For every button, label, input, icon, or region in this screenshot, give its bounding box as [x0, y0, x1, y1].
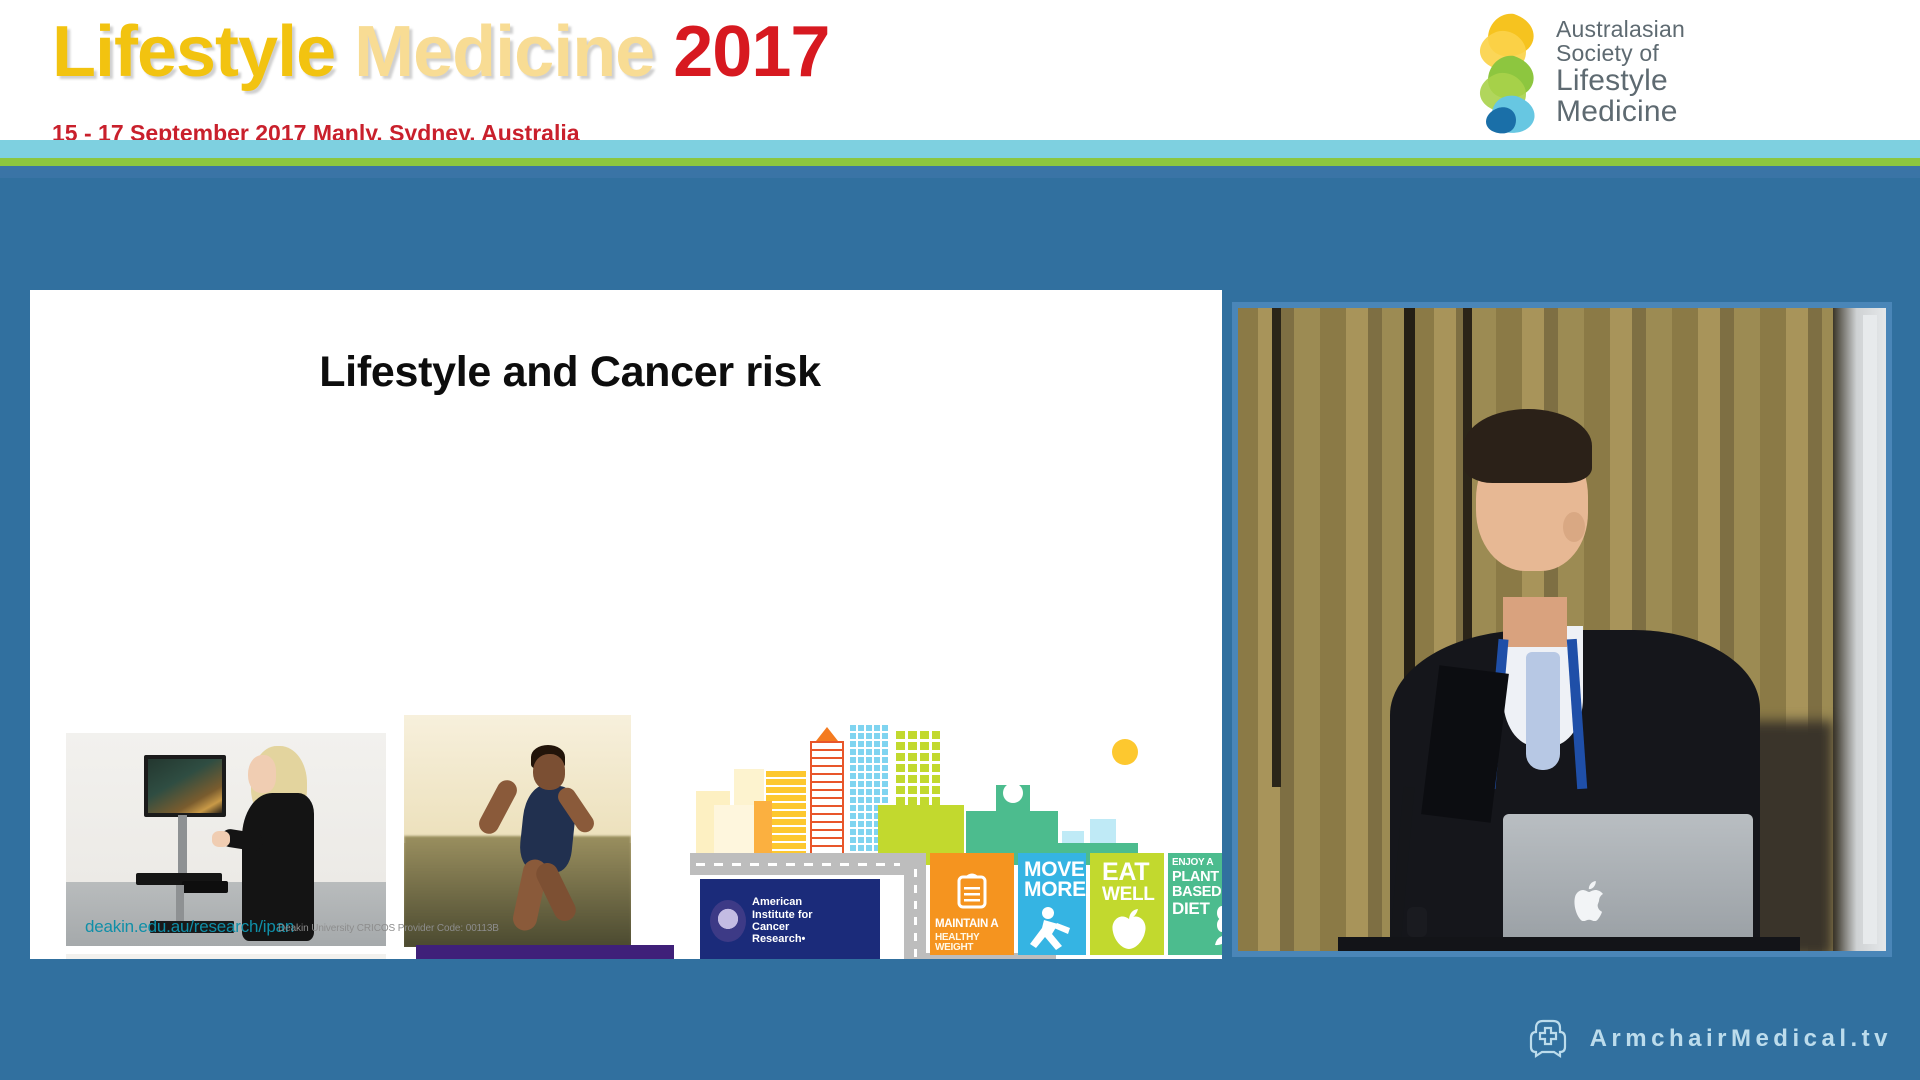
title-word-year: 2017: [673, 12, 829, 92]
conference-title: Lifestyle Medicine 2017: [52, 16, 829, 88]
slide-title: Lifestyle and Cancer risk: [30, 348, 1110, 397]
standing-desk-photo: [66, 733, 386, 946]
maintain-healthy-weight-tile: MAINTAIN A HEALTHY WEIGHT: [930, 853, 1014, 955]
tile-line1: MOVE: [1024, 859, 1085, 880]
move-more-tile: MOVE MORE: [1018, 853, 1086, 955]
header-rule-teal: [0, 140, 1920, 158]
armchair-medical-watermark: ArmchairMedical.tv: [1526, 1018, 1892, 1060]
aslm-logo-line4: Medicine: [1556, 97, 1685, 128]
armchair-medical-cross-icon: [1526, 1018, 1570, 1060]
tile-line2: MORE: [1024, 879, 1086, 900]
aslm-logo: Australasian Society of Lifestyle Medici…: [1468, 10, 1898, 136]
sun-icon: [1112, 739, 1138, 765]
eat-well-tile: EAT WELL: [1090, 853, 1164, 955]
speaker-video[interactable]: [1232, 302, 1892, 957]
aslm-logo-text: Australasian Society of Lifestyle Medici…: [1556, 18, 1685, 127]
conference-header: Lifestyle Medicine 2017 15 - 17 Septembe…: [0, 0, 1920, 178]
aslm-logo-line3: Lifestyle: [1556, 66, 1685, 97]
tile-line1: EAT: [1102, 860, 1149, 885]
runner-icon: [1024, 905, 1082, 953]
slide-panel: Lifestyle and Cancer risk: [30, 290, 1222, 959]
runner-photo: [404, 715, 631, 947]
header-rule-green: [0, 158, 1920, 166]
aslm-leaf-icon: [1468, 12, 1542, 134]
tile-line2: PLANT: [1172, 870, 1219, 885]
video-frame: [1232, 302, 1892, 957]
tile-line1: MAINTAIN A: [935, 919, 998, 931]
aicr-seal-icon: [710, 900, 746, 942]
slide-footer-url: deakin.edu.au/research/ipan: [85, 917, 294, 937]
tile-line4: DIET: [1172, 900, 1210, 917]
tile-line2: HEALTHY WEIGHT: [935, 933, 1014, 953]
apple-icon: [1108, 907, 1150, 951]
title-word-lifestyle: Lifestyle: [52, 12, 335, 92]
tile-line1: ENJOY A: [1172, 858, 1213, 868]
sitting-desk-photo: [66, 954, 386, 959]
scale-icon: [954, 867, 990, 913]
person-face: [248, 755, 276, 793]
cup-report-cover: WorldCancerResearchFund AmericanInstitut…: [416, 945, 674, 959]
header-rule-blue: [0, 166, 1920, 178]
tile-line2: WELL: [1102, 885, 1155, 904]
aslm-logo-line1: Australasian: [1556, 18, 1685, 42]
armchair-medical-text: ArmchairMedical.tv: [1590, 1025, 1892, 1053]
aicr-logo-text: AmericanInstitute forCancerResearch•: [752, 896, 813, 946]
wheat-icon: [1211, 891, 1222, 951]
aicr-logo-box: AmericanInstitute forCancerResearch•: [700, 879, 880, 959]
plant-based-diet-tile: ENJOY A PLANT BASED DIET: [1168, 853, 1222, 955]
slide-footer-note: Deakin University CRICOS Provider Code: …: [278, 923, 499, 934]
aicr-infographic: AmericanInstitute forCancerResearch• 10 …: [690, 725, 1210, 959]
city-skyline-illustration: [690, 725, 1210, 865]
title-word-medicine: Medicine: [354, 12, 654, 92]
aslm-logo-line2: Society of: [1556, 42, 1685, 66]
